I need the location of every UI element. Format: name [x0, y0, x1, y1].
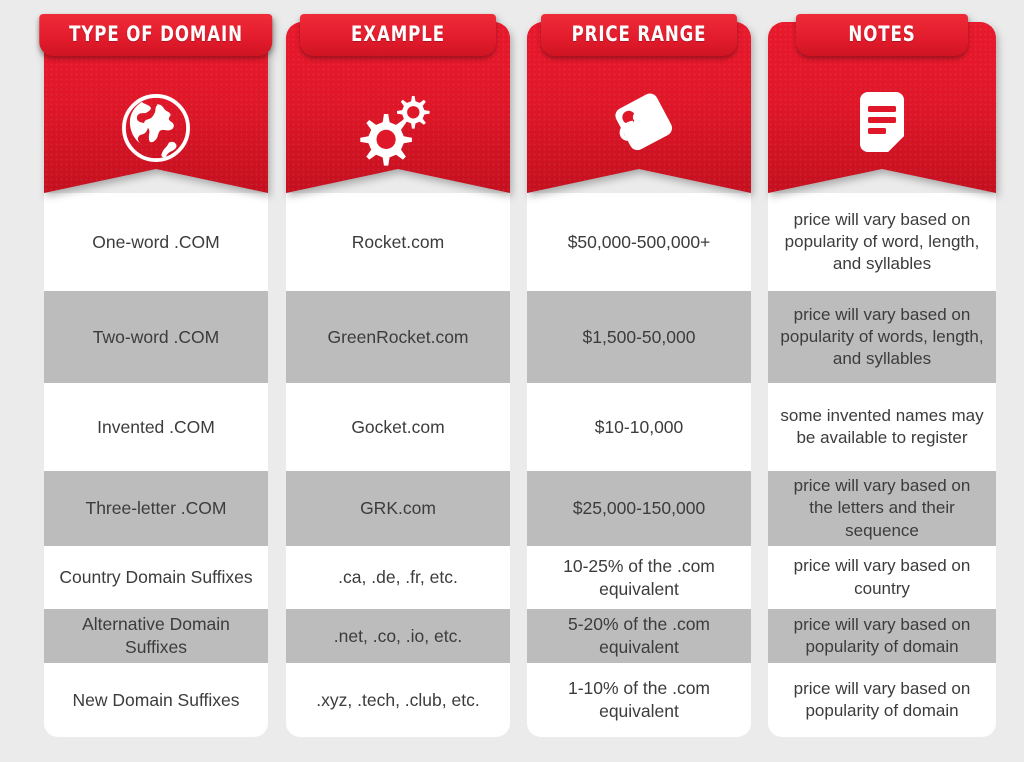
cell-price-range: $10-10,000 — [527, 383, 751, 471]
price-tag-icon — [527, 90, 751, 168]
column-body-example: Rocket.comGreenRocket.comGocket.comGRK.c… — [286, 193, 510, 737]
cell-example: Rocket.com — [286, 193, 510, 291]
cell-example: GreenRocket.com — [286, 291, 510, 383]
cell-example: GRK.com — [286, 471, 510, 546]
cell-notes: price will vary based on country — [768, 546, 996, 609]
column-body-price-range: $50,000-500,000+$1,500-50,000$10-10,000$… — [527, 193, 751, 737]
cell-notes: price will vary based on popularity of w… — [768, 193, 996, 291]
cell-notes: price will vary based on popularity of d… — [768, 609, 996, 663]
cell-notes: price will vary based on the letters and… — [768, 471, 996, 546]
cell-text: price will vary based on popularity of d… — [780, 678, 984, 722]
cell-notes: price will vary based on popularity of d… — [768, 663, 996, 737]
cell-text: price will vary based on popularity of w… — [780, 304, 984, 370]
cell-text: Alternative Domain Suffixes — [56, 613, 256, 659]
cell-text: One-word .COM — [92, 231, 219, 254]
cell-type-of-domain: New Domain Suffixes — [44, 663, 268, 737]
cell-type-of-domain: Invented .COM — [44, 383, 268, 471]
domain-price-table: One-word .COMTwo-word .COMInvented .COMT… — [0, 0, 1024, 762]
cell-type-of-domain: One-word .COM — [44, 193, 268, 291]
cell-text: GRK.com — [360, 497, 436, 520]
cell-text: GreenRocket.com — [327, 326, 468, 349]
cell-price-range: 5-20% of the .com equivalent — [527, 609, 751, 663]
cell-price-range: 10-25% of the .com equivalent — [527, 546, 751, 609]
globe-icon — [44, 90, 268, 166]
cell-text: price will vary based on popularity of w… — [780, 209, 984, 275]
cell-type-of-domain: Two-word .COM — [44, 291, 268, 383]
column-header-notes: NOTES — [768, 22, 996, 193]
cell-text: some invented names may be available to … — [780, 405, 984, 449]
column-header-tab-notes[interactable]: NOTES — [796, 14, 968, 56]
gears-icon — [286, 90, 510, 168]
cell-price-range: $25,000-150,000 — [527, 471, 751, 546]
cell-example: .net, .co, .io, etc. — [286, 609, 510, 663]
cell-type-of-domain: Alternative Domain Suffixes — [44, 609, 268, 663]
cell-text: 10-25% of the .com equivalent — [539, 555, 739, 601]
column-header-price-range: PRICE RANGE — [527, 22, 751, 193]
column-header-tab-type-of-domain[interactable]: TYPE OF DOMAIN — [39, 14, 272, 56]
cell-text: .xyz, .tech, .club, etc. — [316, 689, 479, 712]
cell-text: 1-10% of the .com equivalent — [539, 677, 739, 723]
cell-text: $50,000-500,000+ — [568, 231, 711, 254]
column-header-label: PRICE RANGE — [569, 24, 710, 45]
note-document-icon — [768, 90, 996, 166]
cell-text: Gocket.com — [351, 416, 444, 439]
cell-text: 5-20% of the .com equivalent — [539, 613, 739, 659]
cell-text: Rocket.com — [352, 231, 444, 254]
cell-text: price will vary based on popularity of d… — [780, 614, 984, 658]
column-header-label: TYPE OF DOMAIN — [69, 24, 243, 45]
column-header-example: EXAMPLE — [286, 22, 510, 193]
column-header-tab-price-range[interactable]: PRICE RANGE — [541, 14, 737, 56]
cell-text: New Domain Suffixes — [73, 689, 240, 712]
cell-notes: some invented names may be available to … — [768, 383, 996, 471]
cell-price-range: $50,000-500,000+ — [527, 193, 751, 291]
cell-text: Country Domain Suffixes — [59, 566, 252, 589]
cell-example: .ca, .de, .fr, etc. — [286, 546, 510, 609]
cell-example: .xyz, .tech, .club, etc. — [286, 663, 510, 737]
column-header-type-of-domain: TYPE OF DOMAIN — [44, 22, 268, 193]
cell-example: Gocket.com — [286, 383, 510, 471]
cell-text: Invented .COM — [97, 416, 215, 439]
cell-text: .net, .co, .io, etc. — [334, 625, 462, 648]
column-header-tab-example[interactable]: EXAMPLE — [300, 14, 496, 56]
cell-price-range: 1-10% of the .com equivalent — [527, 663, 751, 737]
column-header-label: EXAMPLE — [328, 24, 469, 45]
cell-text: price will vary based on the letters and… — [780, 475, 984, 541]
cell-text: Two-word .COM — [93, 326, 219, 349]
cell-type-of-domain: Three-letter .COM — [44, 471, 268, 546]
column-body-type-of-domain: One-word .COMTwo-word .COMInvented .COMT… — [44, 193, 268, 737]
cell-text: .ca, .de, .fr, etc. — [338, 566, 458, 589]
cell-type-of-domain: Country Domain Suffixes — [44, 546, 268, 609]
cell-text: $1,500-50,000 — [583, 326, 696, 349]
cell-text: Three-letter .COM — [86, 497, 227, 520]
cell-price-range: $1,500-50,000 — [527, 291, 751, 383]
cell-notes: price will vary based on popularity of w… — [768, 291, 996, 383]
cell-text: price will vary based on country — [780, 555, 984, 599]
column-body-notes: price will vary based on popularity of w… — [768, 193, 996, 737]
column-header-label: NOTES — [822, 24, 942, 45]
cell-text: $10-10,000 — [595, 416, 684, 439]
cell-text: $25,000-150,000 — [573, 497, 705, 520]
